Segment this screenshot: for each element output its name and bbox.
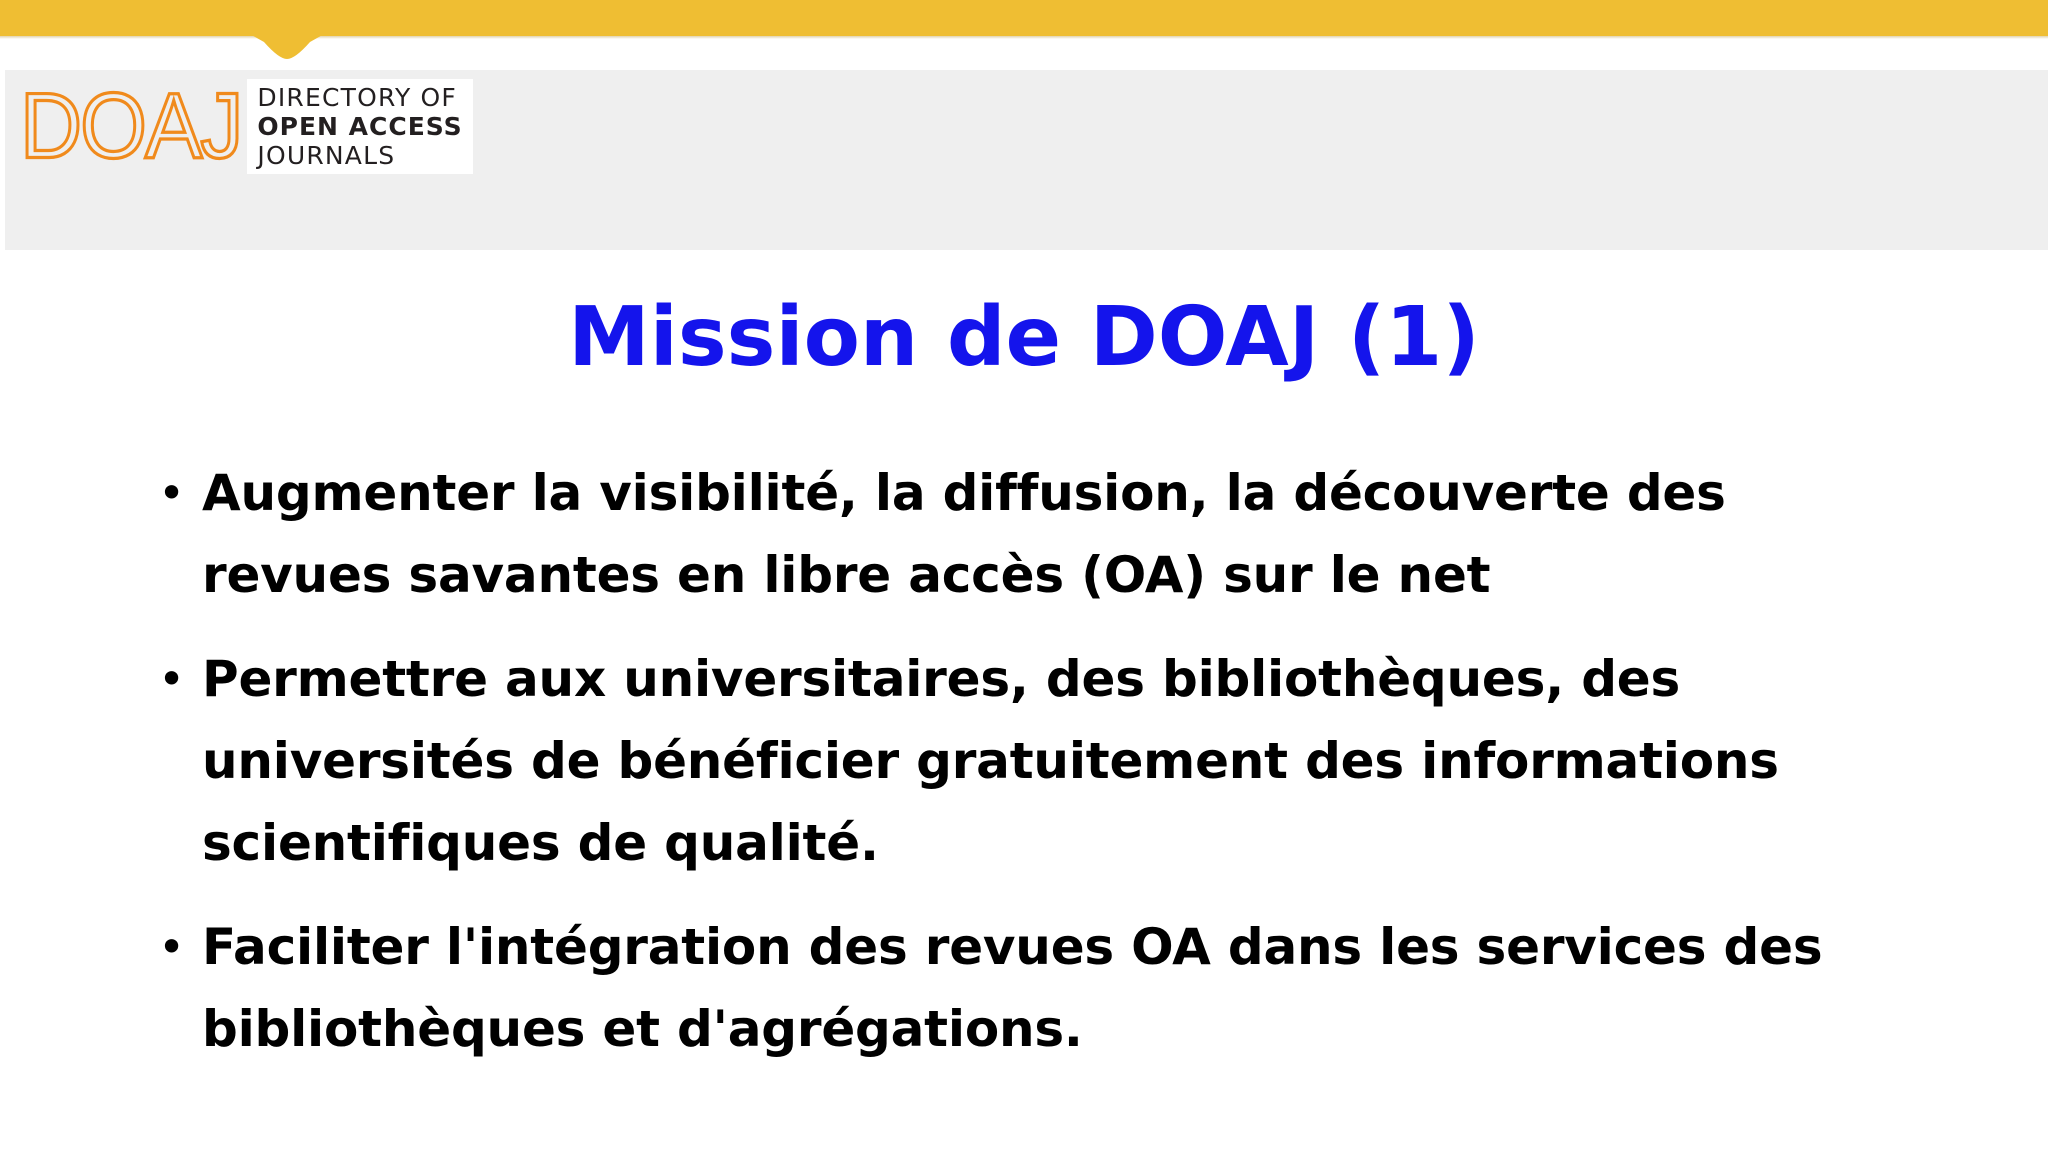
bullet-text: Augmenter la visibilité, la diffusion, l… [202,452,1882,616]
bullet-marker-icon: • [148,906,202,988]
bullet-list: • Augmenter la visibilité, la diffusion,… [148,452,1948,1092]
logo-line-directory-of: DIRECTORY OF [257,83,462,112]
bullet-marker-icon: • [148,452,202,534]
doaj-logo: DOAJ DIRECTORY OF OPEN ACCESS JOURNALS [20,78,473,174]
logo-line-open-access: OPEN ACCESS [257,112,462,141]
slide-canvas: DOAJ DIRECTORY OF OPEN ACCESS JOURNALS M… [0,0,2048,1152]
banner-notch-triangle [248,33,326,59]
slide-title: Mission de DOAJ (1) [0,292,2048,384]
list-item: • Faciliter l'intégration des revues OA … [148,906,1948,1070]
doaj-logo-tagline: DIRECTORY OF OPEN ACCESS JOURNALS [247,79,472,174]
logo-line-journals: JOURNALS [257,141,462,170]
bullet-marker-icon: • [148,638,202,720]
doaj-logo-wordmark: DOAJ [20,80,241,173]
list-item: • Augmenter la visibilité, la diffusion,… [148,452,1948,616]
list-item: • Permettre aux universitaires, des bibl… [148,638,1948,884]
top-yellow-banner [0,0,2048,36]
bullet-text: Permettre aux universitaires, des biblio… [202,638,1882,884]
bullet-text: Faciliter l'intégration des revues OA da… [202,906,1882,1070]
